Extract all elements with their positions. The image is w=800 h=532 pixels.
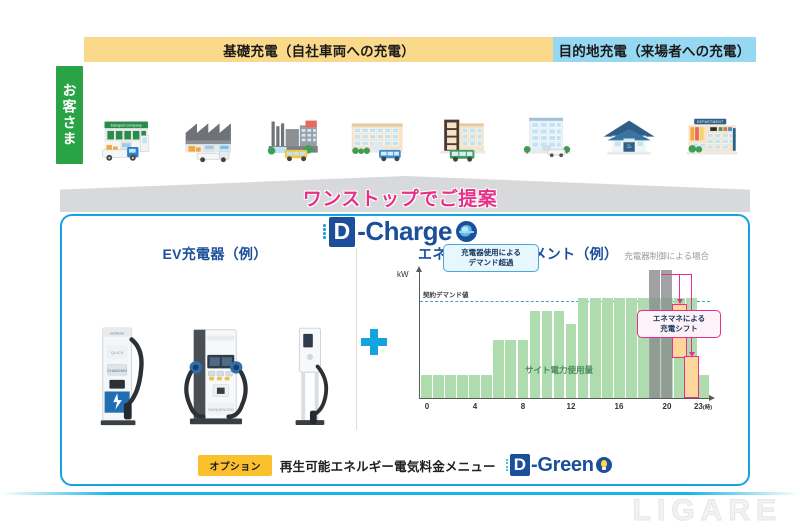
school-icon [339, 103, 423, 165]
globe-icon [456, 221, 477, 242]
customer-item-transport-company: transport company [88, 66, 172, 168]
charger-nitto [262, 314, 356, 438]
panel-inner: EV充電器（例） nichicon QUICK CHADEMO SHINDENG… [74, 244, 736, 440]
chart-x-ticks: 04812162023(時) [421, 402, 711, 416]
bar-hour-12 [566, 324, 577, 398]
bar-hour-0 [421, 375, 432, 398]
logo-dots-icon [323, 224, 326, 239]
charger-list: nichicon QUICK CHADEMO SHINDENGEN [74, 270, 356, 438]
customer-item-heat-demand-factory [172, 66, 256, 168]
x-tick-16: 16 [615, 402, 624, 411]
x-tick-20: 20 [663, 402, 672, 411]
commercial-icon: DEPARTMENT [673, 103, 757, 165]
heat-demand-factory-icon [172, 103, 256, 165]
bar-hour-1 [433, 375, 444, 398]
slide-root: 基礎充電（自社車両への充電） 目的地充電（来場者への充電） お客さま trans… [0, 0, 800, 532]
callout-charge-shift: エネマネによる充電シフト [637, 310, 721, 338]
arrowhead-1 [677, 299, 683, 304]
bar-hour-3 [457, 375, 468, 398]
x-tick-8: 8 [521, 402, 525, 411]
factory-icon [255, 103, 339, 165]
bar-hour-17 [626, 298, 637, 398]
bar-hour-2 [445, 375, 456, 398]
arrowhead-2 [689, 352, 695, 357]
option-badge: オプション [198, 455, 272, 476]
svg-text:QUICK: QUICK [111, 350, 124, 355]
bar-hour-23 [698, 375, 709, 398]
shift-block-2 [684, 356, 699, 398]
customer-item-commercial: DEPARTMENT [673, 66, 757, 168]
shift-arrow-top [661, 274, 681, 275]
shift-arrow-top-2 [679, 274, 691, 275]
plus-icon [361, 329, 387, 355]
x-tick-23: 23(時) [694, 402, 712, 411]
x-tick-0: 0 [425, 402, 429, 411]
customer-item-sales-base [506, 66, 590, 168]
option-row: オプション 再生可能エネルギー電気料金メニュー D -Green [60, 452, 750, 478]
ems-chart: kW 契約デマンド値 サイト電力使用量 04812162023(時) [397, 268, 715, 418]
option-text: 再生可能エネルギー電気料金メニュー [280, 456, 496, 475]
bar-hour-4 [469, 375, 480, 398]
lightbulb-icon [596, 457, 612, 473]
shift-arrow-down-1 [679, 274, 680, 300]
nitto-charger-image [286, 314, 332, 432]
customer-item-bus-company [422, 66, 506, 168]
dcharge-logo-wrap: D -Charge [0, 216, 800, 247]
svg-text:♨: ♨ [626, 142, 632, 150]
svg-text:SHINDENGEN: SHINDENGEN [208, 408, 234, 412]
bar-hour-14 [590, 298, 601, 398]
customer-item-hot-spring: ♨ [589, 66, 673, 168]
bar-hour-15 [602, 298, 613, 398]
chart-x-axis [419, 398, 711, 399]
header-destination-charge-label: 目的地充電（来場者への充電） [559, 40, 751, 60]
bar-hour-6 [493, 340, 504, 398]
customer-item-school [339, 66, 423, 168]
svg-text:DEPARTMENT: DEPARTMENT [697, 120, 724, 124]
charger-nichicon: nichicon QUICK CHADEMO [74, 314, 168, 438]
dgreen-logo-text: -Green [531, 454, 594, 477]
x-tick-4: 4 [473, 402, 477, 411]
svg-text:CHADEMO: CHADEMO [107, 369, 127, 373]
ev-section-title: EV充電器（例） [74, 244, 356, 264]
logo-dots-icon [506, 459, 508, 471]
chart-y-axis-label: kW [397, 270, 409, 279]
plus-column [357, 244, 391, 440]
dcharge-logo-d: D [329, 217, 356, 247]
hot-spring-icon: ♨ [589, 103, 673, 165]
customer-row: transport company [88, 66, 756, 168]
bar-hour-5 [481, 375, 492, 398]
bar-hour-11 [554, 311, 565, 398]
callout-demand-overrun: 充電器使用によるデマンド超過 [443, 244, 539, 272]
nichicon-charger-image: nichicon QUICK CHADEMO [95, 314, 147, 432]
dgreen-logo-d: D [510, 454, 530, 476]
ems-section-subtitle: 充電器制御による場合 [624, 250, 709, 262]
customer-tab-label: お客さま [60, 83, 80, 147]
x-axis-arrow-icon [709, 395, 715, 401]
bar-hour-7 [505, 340, 516, 398]
charger-shindengen: SHINDENGEN [168, 314, 262, 438]
header-destination-charge: 目的地充電（来場者への充電） [553, 37, 756, 62]
svg-text:transport company: transport company [110, 124, 141, 128]
onestop-banner-label: ワンストップでご提案 [0, 184, 800, 211]
bus-company-icon [422, 103, 506, 165]
dgreen-logo: D -Green [506, 454, 612, 477]
dcharge-logo: D -Charge [313, 216, 487, 247]
ev-charger-section: EV充電器（例） nichicon QUICK CHADEMO SHINDENG… [74, 244, 356, 440]
bar-hour-9 [530, 311, 541, 398]
customer-tab: お客さま [56, 66, 83, 164]
x-tick-12: 12 [567, 402, 576, 411]
header-basic-charge-label: 基礎充電（自社車両への充電） [223, 40, 415, 60]
sales-base-icon [506, 103, 590, 165]
bar-hour-10 [542, 311, 553, 398]
shindengen-charger-image: SHINDENGEN [180, 314, 250, 432]
bar-hour-13 [578, 298, 589, 398]
customer-item-factory [255, 66, 339, 168]
dcharge-logo-text: -Charge [357, 216, 452, 247]
chart-y-axis [419, 270, 420, 398]
site-usage-label: サイト電力使用量 [525, 364, 593, 376]
transport-company-icon: transport company [88, 103, 172, 165]
watermark: LIGARE [633, 494, 782, 528]
bar-hour-16 [614, 298, 625, 398]
ems-section: エネルギーマネジメント（例） 充電器制御による場合 kW 契約デマンド値 サイト… [391, 244, 736, 440]
svg-text:nichicon: nichicon [110, 332, 124, 336]
header-basic-charge: 基礎充電（自社車両への充電） [84, 37, 554, 62]
